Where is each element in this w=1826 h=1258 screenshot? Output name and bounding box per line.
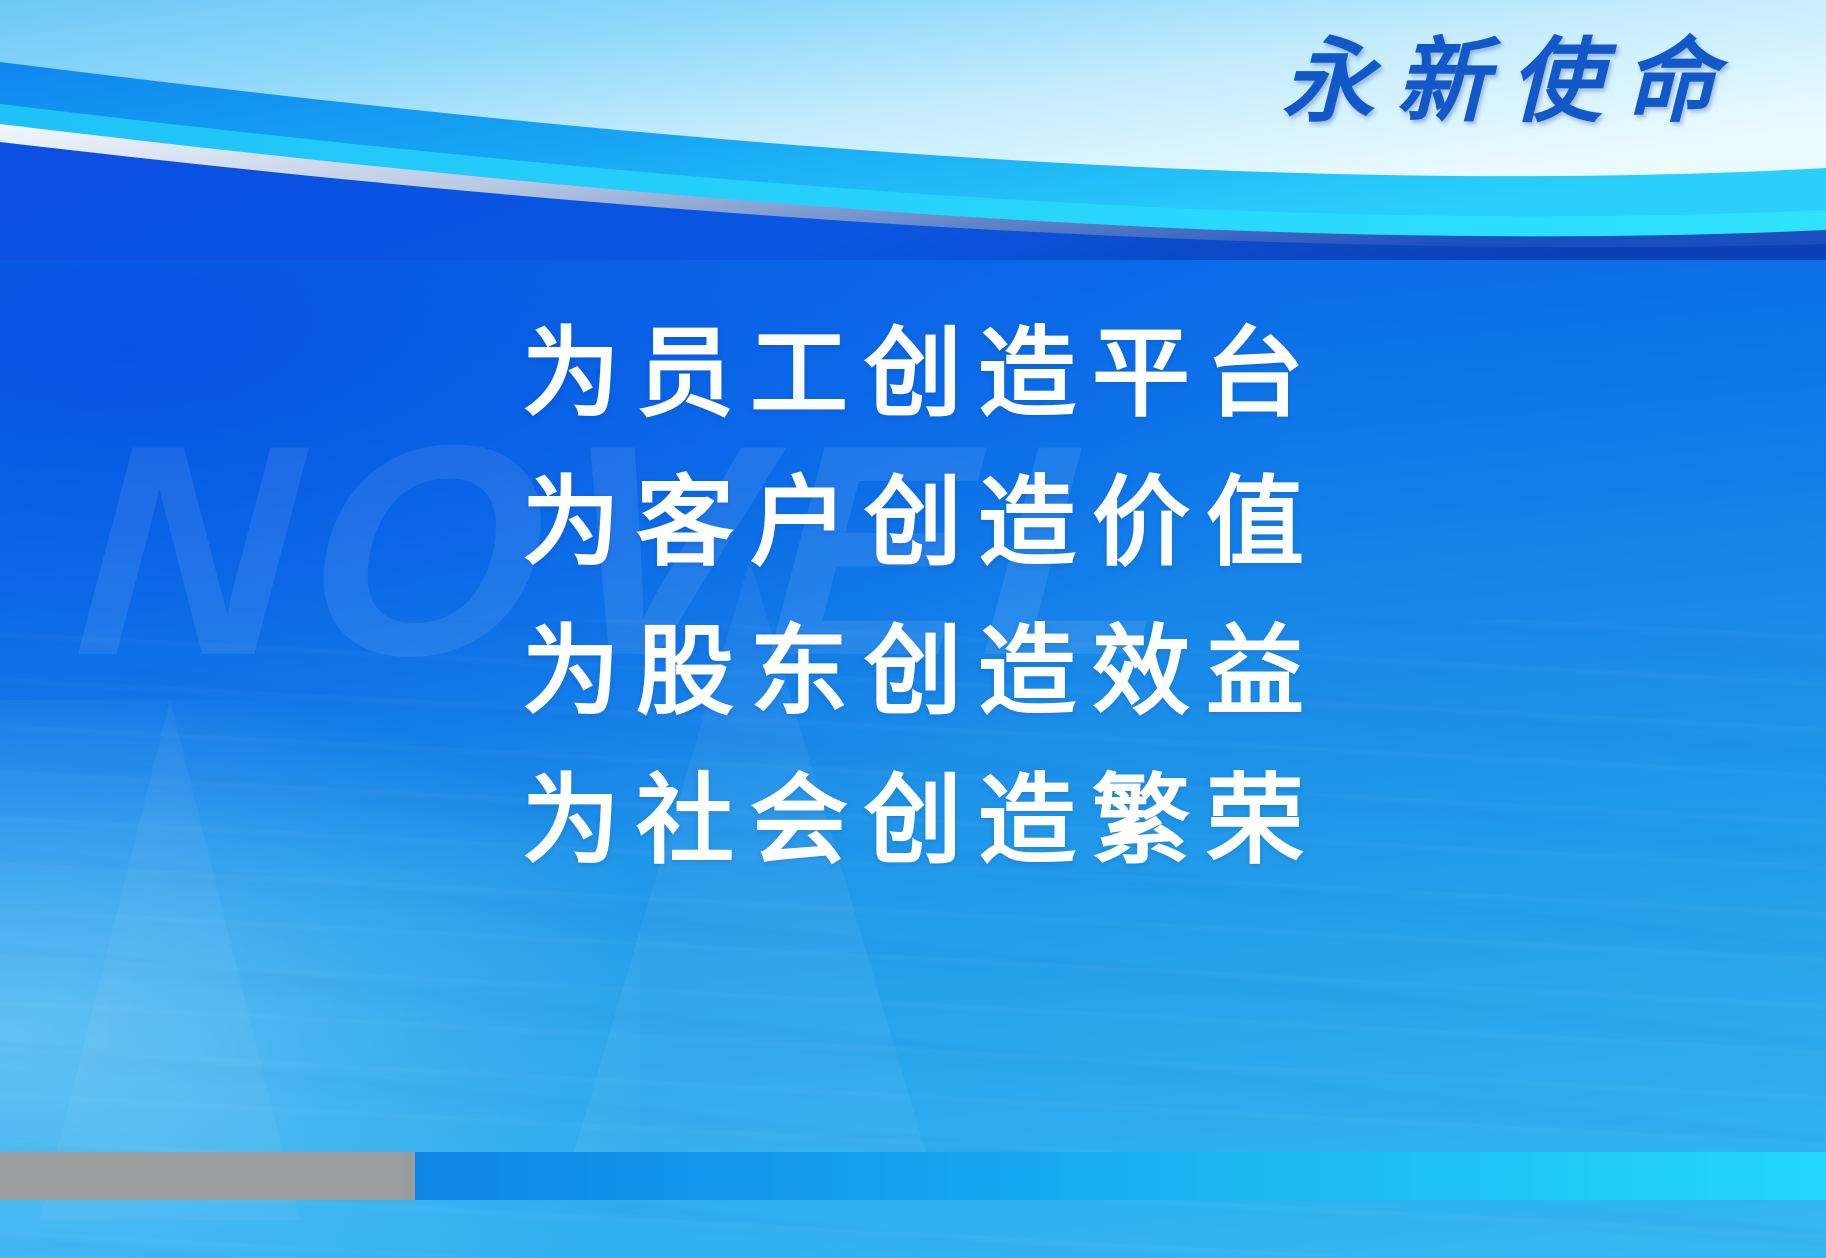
mission-line-2: 为客户创造价值 (0, 449, 1826, 598)
mission-line-4: 为社会创造繁荣 (0, 747, 1826, 896)
bottom-accent-bar (0, 1152, 1826, 1200)
page-title: 永新使命 (1282, 34, 1738, 131)
mission-poster: NOVEL (0, 0, 1826, 1258)
mission-line-3: 为股东创造效益 (0, 598, 1826, 747)
bottom-bar-gray-segment (0, 1152, 415, 1200)
bottom-bar-blue-segment (415, 1152, 1826, 1200)
mission-line-1: 为员工创造平台 (0, 300, 1826, 449)
mission-statement-list: 为员工创造平台 为客户创造价值 为股东创造效益 为社会创造繁荣 (0, 300, 1826, 896)
